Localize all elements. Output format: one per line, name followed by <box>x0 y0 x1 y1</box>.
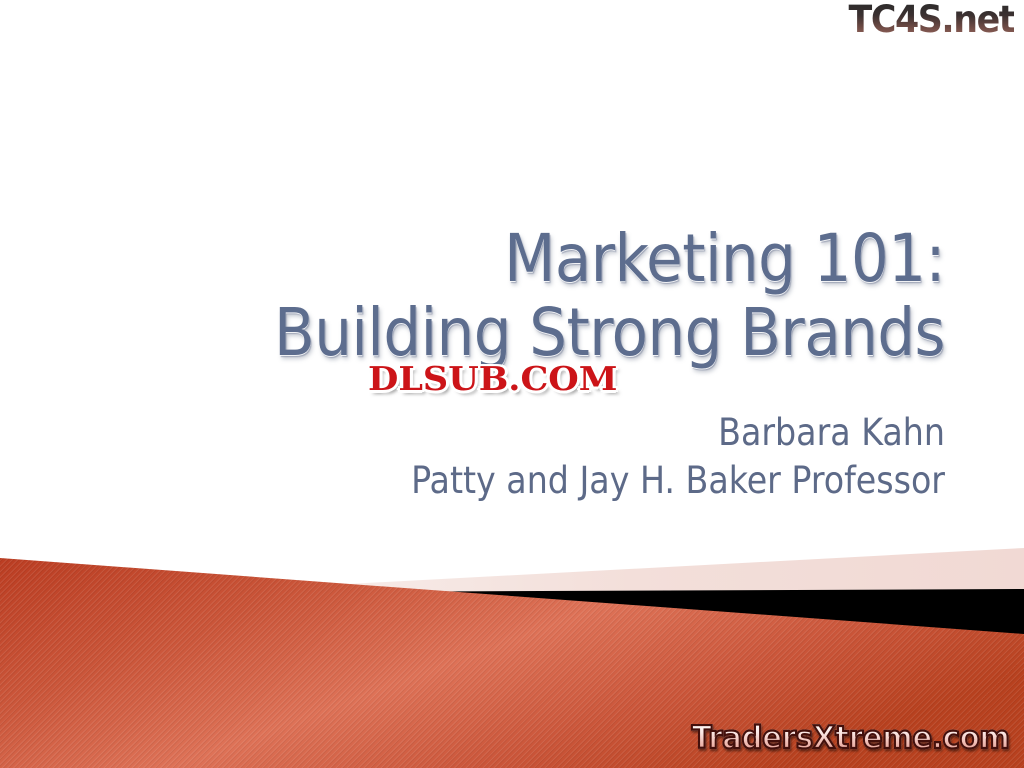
title-slide: TC4S.net Marketing 101: Building Strong … <box>0 0 1024 768</box>
pink-wedge-shape <box>310 548 1024 596</box>
tc4s-logo: TC4S.net <box>849 1 1014 38</box>
presenter-title: Patty and Jay H. Baker Professor <box>60 457 945 505</box>
title-line-1: Marketing 101: <box>60 222 945 296</box>
page-title: Marketing 101: Building Strong Brands <box>60 222 945 370</box>
black-wedge-shape <box>312 589 1024 639</box>
presenter-info: Barbara Kahn Patty and Jay H. Baker Prof… <box>60 409 945 505</box>
tradersxtreme-watermark: TradersXtreme.com <box>692 720 1010 756</box>
presenter-name: Barbara Kahn <box>60 409 945 457</box>
dlsub-watermark: DLSUB.COM <box>368 360 617 398</box>
